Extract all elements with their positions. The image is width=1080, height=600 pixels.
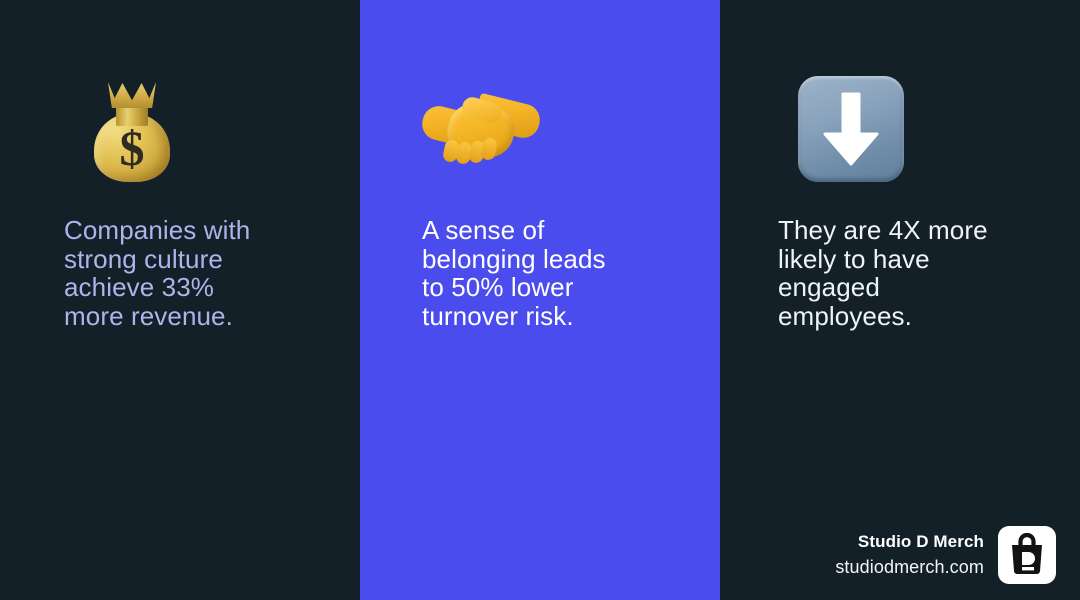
dollar-sign-icon: $	[94, 122, 170, 174]
stat-panel-2: A sense of belonging leads to 50% lower …	[360, 0, 720, 600]
brand-url[interactable]: studiodmerch.com	[835, 557, 984, 578]
down-arrow-button-emoji	[798, 76, 904, 182]
handshake-emoji	[422, 94, 540, 170]
brand-logo[interactable]	[998, 526, 1056, 584]
stat-text-3: They are 4X more likely to have engaged …	[778, 216, 1064, 330]
down-arrow-button-icon	[778, 72, 1018, 188]
infographic-canvas: $ Companies with strong culture achieve …	[0, 0, 1080, 600]
money-bag-emoji: $	[94, 78, 170, 182]
money-bag-icon: $	[62, 72, 302, 188]
handshake-fingers	[444, 138, 498, 164]
handshake-icon	[416, 72, 656, 188]
brand-text-block: Studio D Merch studiodmerch.com	[835, 532, 984, 577]
stat-panel-1: $ Companies with strong culture achieve …	[0, 0, 360, 600]
money-bag-tie	[108, 82, 156, 108]
brand-name: Studio D Merch	[835, 532, 984, 552]
arrow-down-icon	[816, 92, 886, 166]
brand-footer: Studio D Merch studiodmerch.com	[835, 526, 1056, 584]
stat-text-1: Companies with strong culture achieve 33…	[64, 216, 332, 330]
stat-text-2: A sense of belonging leads to 50% lower …	[422, 216, 684, 330]
shopping-bag-logo-icon	[1007, 533, 1047, 577]
stat-panel-3: They are 4X more likely to have engaged …	[720, 0, 1080, 600]
